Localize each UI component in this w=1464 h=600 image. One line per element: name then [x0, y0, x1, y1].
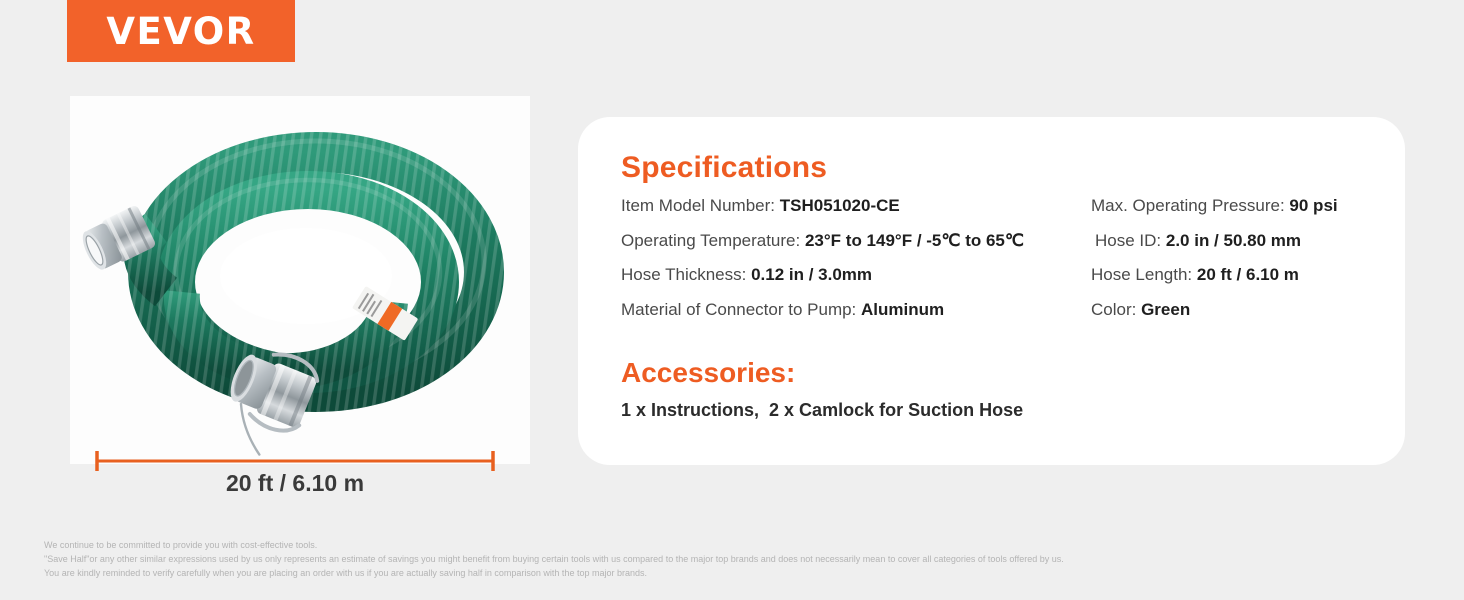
footer-line-2: "Save Half"or any other similar expressi…	[44, 553, 1424, 567]
spec-label: Item Model Number:	[621, 196, 780, 215]
spec-row-material-of-connector: Material of Connector to Pump: Aluminum	[621, 301, 1091, 320]
spec-row-hose-id: Hose ID: 2.0 in / 50.80 mm	[1091, 232, 1391, 251]
spec-value: TSH051020-CE	[780, 196, 900, 215]
spec-label: Material of Connector to Pump:	[621, 300, 861, 319]
footer-disclaimer: We continue to be committed to provide y…	[44, 539, 1424, 581]
spec-label: Color:	[1091, 300, 1141, 319]
footer-line-1: We continue to be committed to provide y…	[44, 539, 1424, 553]
spec-label: Max. Operating Pressure:	[1091, 196, 1289, 215]
spec-value: 20 ft / 6.10 m	[1197, 265, 1299, 284]
spec-row-hose-length: Hose Length: 20 ft / 6.10 m	[1091, 266, 1391, 285]
spec-value: Aluminum	[861, 300, 944, 319]
spec-label: Hose Length:	[1091, 265, 1197, 284]
spec-value: 23°F to 149°F / -5℃ to 65℃	[805, 231, 1024, 250]
spec-row-color: Color: Green	[1091, 301, 1391, 320]
accessories-list: 1 x Instructions, 2 x Camlock for Suctio…	[621, 400, 1023, 421]
spec-value: 2.0 in / 50.80 mm	[1166, 231, 1301, 250]
accessories-heading: Accessories:	[621, 357, 795, 389]
spec-value: Green	[1141, 300, 1190, 319]
spec-row-item-model-number: Item Model Number: TSH051020-CE	[621, 197, 1091, 216]
product-figure: 20 ft / 6.10 m	[70, 96, 530, 496]
vevor-logo: VEVOR	[67, 0, 295, 62]
dimension-label: 20 ft / 6.10 m	[70, 470, 520, 497]
spec-value: 90 psi	[1289, 196, 1337, 215]
vevor-logo-text: VEVOR	[106, 13, 255, 50]
footer-line-3: You are kindly reminded to verify carefu…	[44, 567, 1424, 581]
specifications-panel: Specifications Item Model Number: TSH051…	[578, 117, 1405, 465]
spec-label: Operating Temperature:	[621, 231, 805, 250]
spec-row-max-operating-pressure: Max. Operating Pressure: 90 psi	[1091, 197, 1391, 216]
spec-value: 0.12 in / 3.0mm	[751, 265, 872, 284]
specifications-heading: Specifications	[621, 151, 827, 185]
specifications-right-column: Max. Operating Pressure: 90 psi Hose ID:…	[1091, 197, 1391, 336]
product-photo-hose	[70, 96, 530, 464]
specifications-left-column: Item Model Number: TSH051020-CE Operatin…	[621, 197, 1091, 336]
spec-label: Hose ID:	[1095, 231, 1166, 250]
spec-row-hose-thickness: Hose Thickness: 0.12 in / 3.0mm	[621, 266, 1091, 285]
spec-row-operating-temperature: Operating Temperature: 23°F to 149°F / -…	[621, 232, 1091, 251]
spec-label: Hose Thickness:	[621, 265, 751, 284]
